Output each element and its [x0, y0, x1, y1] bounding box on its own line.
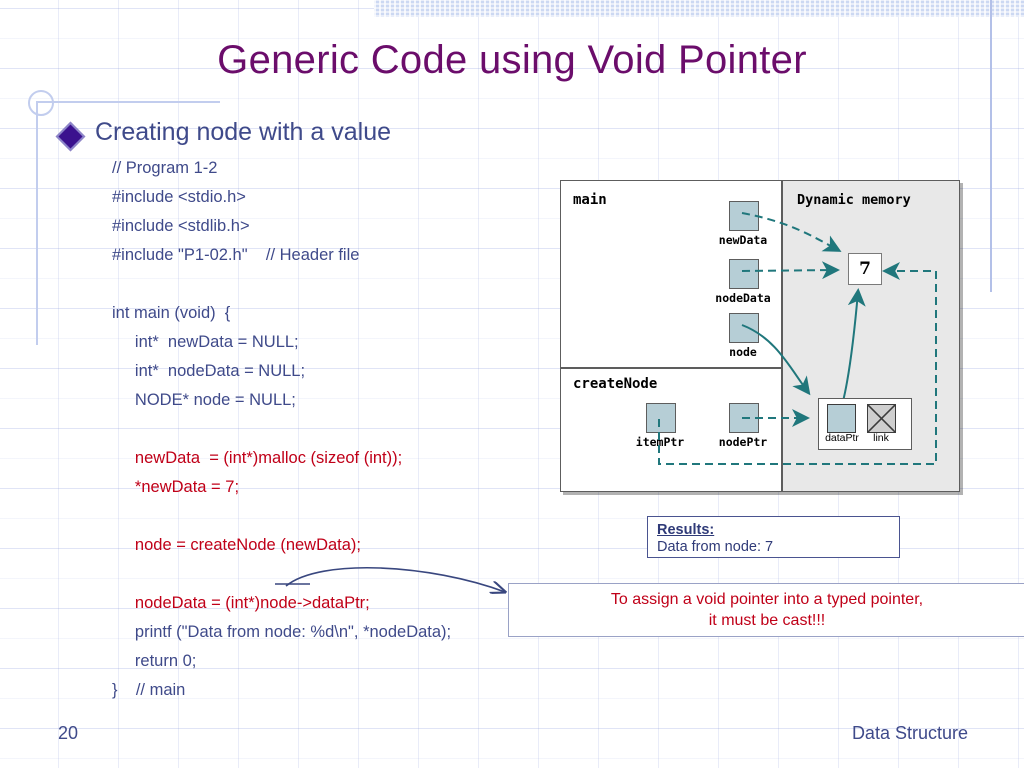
results-title: Results: [657, 522, 890, 538]
bullet-heading-label: Creating node with a value [95, 118, 391, 146]
diagram-createnode-label: createNode [573, 376, 657, 392]
code-line: *newData = 7; [112, 473, 582, 502]
results-output-line: Data from node: 7 [657, 538, 890, 556]
diagram-dynamic-memory-label: Dynamic memory [797, 192, 911, 208]
code-line: int main (void) { [112, 299, 582, 328]
bullet-heading-row: Creating node with a value [60, 118, 391, 147]
code-line: return 0; [112, 647, 582, 676]
diagram-main-label: main [573, 192, 607, 208]
code-blank-line [112, 270, 582, 299]
pointer-label-newdata: newData [701, 233, 785, 247]
node-field-link-label: link [863, 432, 899, 444]
pointer-box-nodedata [729, 259, 759, 289]
left-decorative-horizontal-line [38, 101, 220, 103]
code-line: #include "P1-02.h" // Header file [112, 241, 582, 270]
code-line: NODE* node = NULL; [112, 386, 582, 415]
heap-value-box: 7 [848, 253, 882, 285]
top-decorative-band [374, 0, 1024, 17]
pointer-box-nodeptr [729, 403, 759, 433]
heap-node-box: dataPtr link [818, 398, 912, 450]
pointer-box-newdata [729, 201, 759, 231]
note-line-1: To assign a void pointer into a typed po… [611, 589, 923, 610]
footer-course-label: Data Structure [852, 723, 968, 744]
code-line: #include <stdio.h> [112, 183, 582, 212]
results-box: Results: Data from node: 7 [647, 516, 900, 558]
pointer-label-itemptr: itemPtr [618, 435, 702, 449]
page-title: Generic Code using Void Pointer [0, 38, 1024, 83]
pointer-label-nodeptr: nodePtr [703, 435, 783, 449]
pointer-label-node: node [711, 345, 775, 359]
node-field-dataptr-cell [827, 404, 856, 433]
left-decorative-vertical-line [36, 101, 38, 345]
note-line-2: it must be cast!!! [709, 610, 825, 631]
pointer-label-nodedata: nodeData [699, 291, 787, 305]
pointer-box-itemptr [646, 403, 676, 433]
node-field-link-cell [867, 404, 896, 433]
code-line: } // main [112, 676, 582, 705]
note-box: To assign a void pointer into a typed po… [508, 583, 1024, 637]
diamond-bullet-icon [56, 122, 86, 152]
code-line: node = createNode (newData); [112, 531, 582, 560]
code-blank-line [112, 415, 582, 444]
pointer-box-node [729, 313, 759, 343]
code-line: #include <stdlib.h> [112, 212, 582, 241]
code-blank-line [112, 502, 582, 531]
page-number: 20 [58, 723, 78, 744]
code-line: int* nodeData = NULL; [112, 357, 582, 386]
code-line: newData = (int*)malloc (sizeof (int)); [112, 444, 582, 473]
node-field-dataptr-label: dataPtr [821, 432, 863, 444]
code-line: int* newData = NULL; [112, 328, 582, 357]
left-decorative-circle-icon [28, 90, 54, 116]
code-line: // Program 1-2 [112, 154, 582, 183]
null-cross-icon [868, 405, 895, 432]
